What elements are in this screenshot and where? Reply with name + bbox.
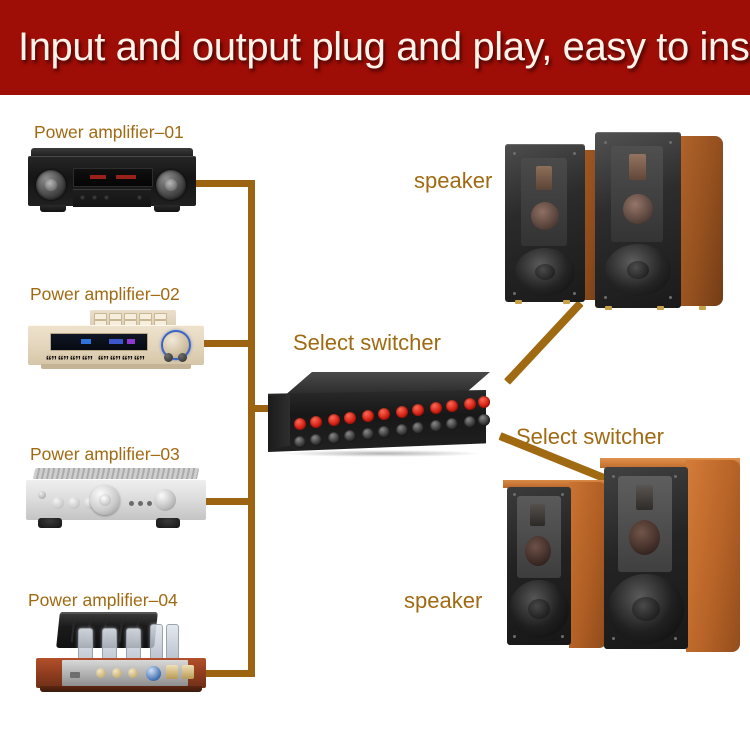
- amp04-knob-1: [96, 668, 106, 678]
- infographic-canvas: Input and output plug and play, easy to …: [0, 0, 750, 750]
- amp01-left-knob: [36, 170, 66, 200]
- amp01-foot-left: [40, 205, 66, 212]
- bottom-speaker-left-tweeter: [530, 504, 545, 526]
- amp04-knob-3: [128, 668, 138, 678]
- amp01-display: [73, 168, 153, 187]
- bottom-speaker-right-woofer: [608, 574, 684, 644]
- top-speaker-right-tweeter: [629, 154, 646, 180]
- amp03-jack-2: [138, 501, 143, 506]
- amp02-control-row: [46, 353, 146, 361]
- switcher-label: Select switcher: [293, 330, 441, 356]
- amplifier-04-device: [36, 612, 206, 696]
- amp03-knob-2: [68, 497, 80, 509]
- amp01-control-panel: [73, 189, 151, 207]
- amp01-foot-right: [154, 205, 180, 212]
- amp01-right-knob: [156, 170, 186, 200]
- top-speaker-right-foot-3: [699, 306, 706, 310]
- wire-spine-vertical: [248, 180, 255, 677]
- top-speaker-right: [595, 132, 723, 310]
- amp03-jack-3: [147, 501, 152, 506]
- amp02-button-grid: [90, 310, 176, 326]
- amp02-small-knob-2: [178, 353, 187, 362]
- amplifier-01-device: [28, 148, 196, 214]
- amp04-vacuum-tube-4: [150, 624, 163, 660]
- switcher-binding-posts: [292, 396, 490, 448]
- top-speaker-right-wood-side: [675, 136, 723, 306]
- amp03-foot-right: [156, 518, 180, 528]
- amp02-body: [28, 325, 204, 365]
- amp02-base: [41, 364, 191, 369]
- amplifier-02-label: Power amplifier–02: [30, 284, 180, 305]
- wire-branch-amp03: [206, 498, 255, 505]
- amp04-usb-port: [70, 672, 80, 678]
- page-title: Input and output plug and play, easy to …: [18, 20, 748, 75]
- top-speaker-left-midrange: [531, 202, 559, 230]
- top-speaker-right-foot-2: [657, 306, 664, 310]
- bottom-speaker-right-wood-side: [686, 460, 740, 652]
- amp02-small-knob-1: [164, 353, 173, 362]
- amp04-gold-terminal-1: [166, 665, 178, 679]
- amplifier-03-device: [26, 468, 206, 530]
- bottom-speaker-left-midrange: [525, 536, 551, 566]
- amp03-jack-1: [129, 501, 134, 506]
- amp04-vacuum-tube-5: [166, 624, 179, 660]
- select-switcher-device: [268, 372, 498, 467]
- bottom-speaker-label: speaker: [404, 588, 482, 614]
- amp04-knob-2: [112, 668, 122, 678]
- top-speaker-left-woofer: [515, 248, 575, 296]
- amp03-knob-1: [52, 497, 64, 509]
- top-speaker-label: speaker: [414, 168, 492, 194]
- amp04-front-panel: [62, 660, 188, 686]
- switcher-side-panel: [268, 394, 290, 450]
- amp03-body: [26, 479, 206, 520]
- amp01-body: [28, 156, 196, 206]
- amp03-foot-left: [38, 518, 62, 528]
- amp04-base: [40, 686, 202, 692]
- amplifier-04-label: Power amplifier–04: [28, 590, 178, 611]
- bottom-speaker-right-midrange: [629, 520, 660, 555]
- wire-branch-amp01: [196, 180, 255, 187]
- amp02-display: [50, 333, 148, 351]
- amplifier-02-device: [28, 310, 204, 372]
- top-speaker-left-tweeter: [536, 166, 552, 190]
- amplifier-01-label: Power amplifier–01: [34, 122, 184, 143]
- bottom-speaker-right: [600, 458, 740, 654]
- header-banner: Input and output plug and play, easy to …: [0, 0, 750, 95]
- switcher-shadow: [284, 450, 480, 457]
- amp04-gold-terminal-2: [182, 665, 194, 679]
- top-speaker-right-woofer: [605, 244, 671, 296]
- bottom-speaker-right-tweeter: [636, 485, 653, 510]
- wire-branch-amp04: [206, 670, 255, 677]
- top-speaker-left: [505, 144, 597, 304]
- top-speaker-right-midrange: [623, 194, 653, 224]
- amplifier-03-label: Power amplifier–03: [30, 444, 180, 465]
- amp04-volume-knob: [146, 666, 161, 681]
- bottom-speaker-left-woofer: [509, 580, 569, 638]
- bottom-speaker-left: [503, 480, 607, 650]
- top-speaker-left-foot-2: [563, 300, 570, 304]
- wire-branch-amp02: [204, 340, 255, 347]
- amp03-power-button: [38, 491, 46, 499]
- top-speaker-left-foot-1: [515, 300, 522, 304]
- output-flow-line-1: Select switcher: [516, 424, 686, 450]
- amp03-volume-knob: [90, 485, 120, 515]
- top-speaker-right-foot-1: [605, 306, 612, 310]
- amp03-selector-knob: [154, 489, 176, 511]
